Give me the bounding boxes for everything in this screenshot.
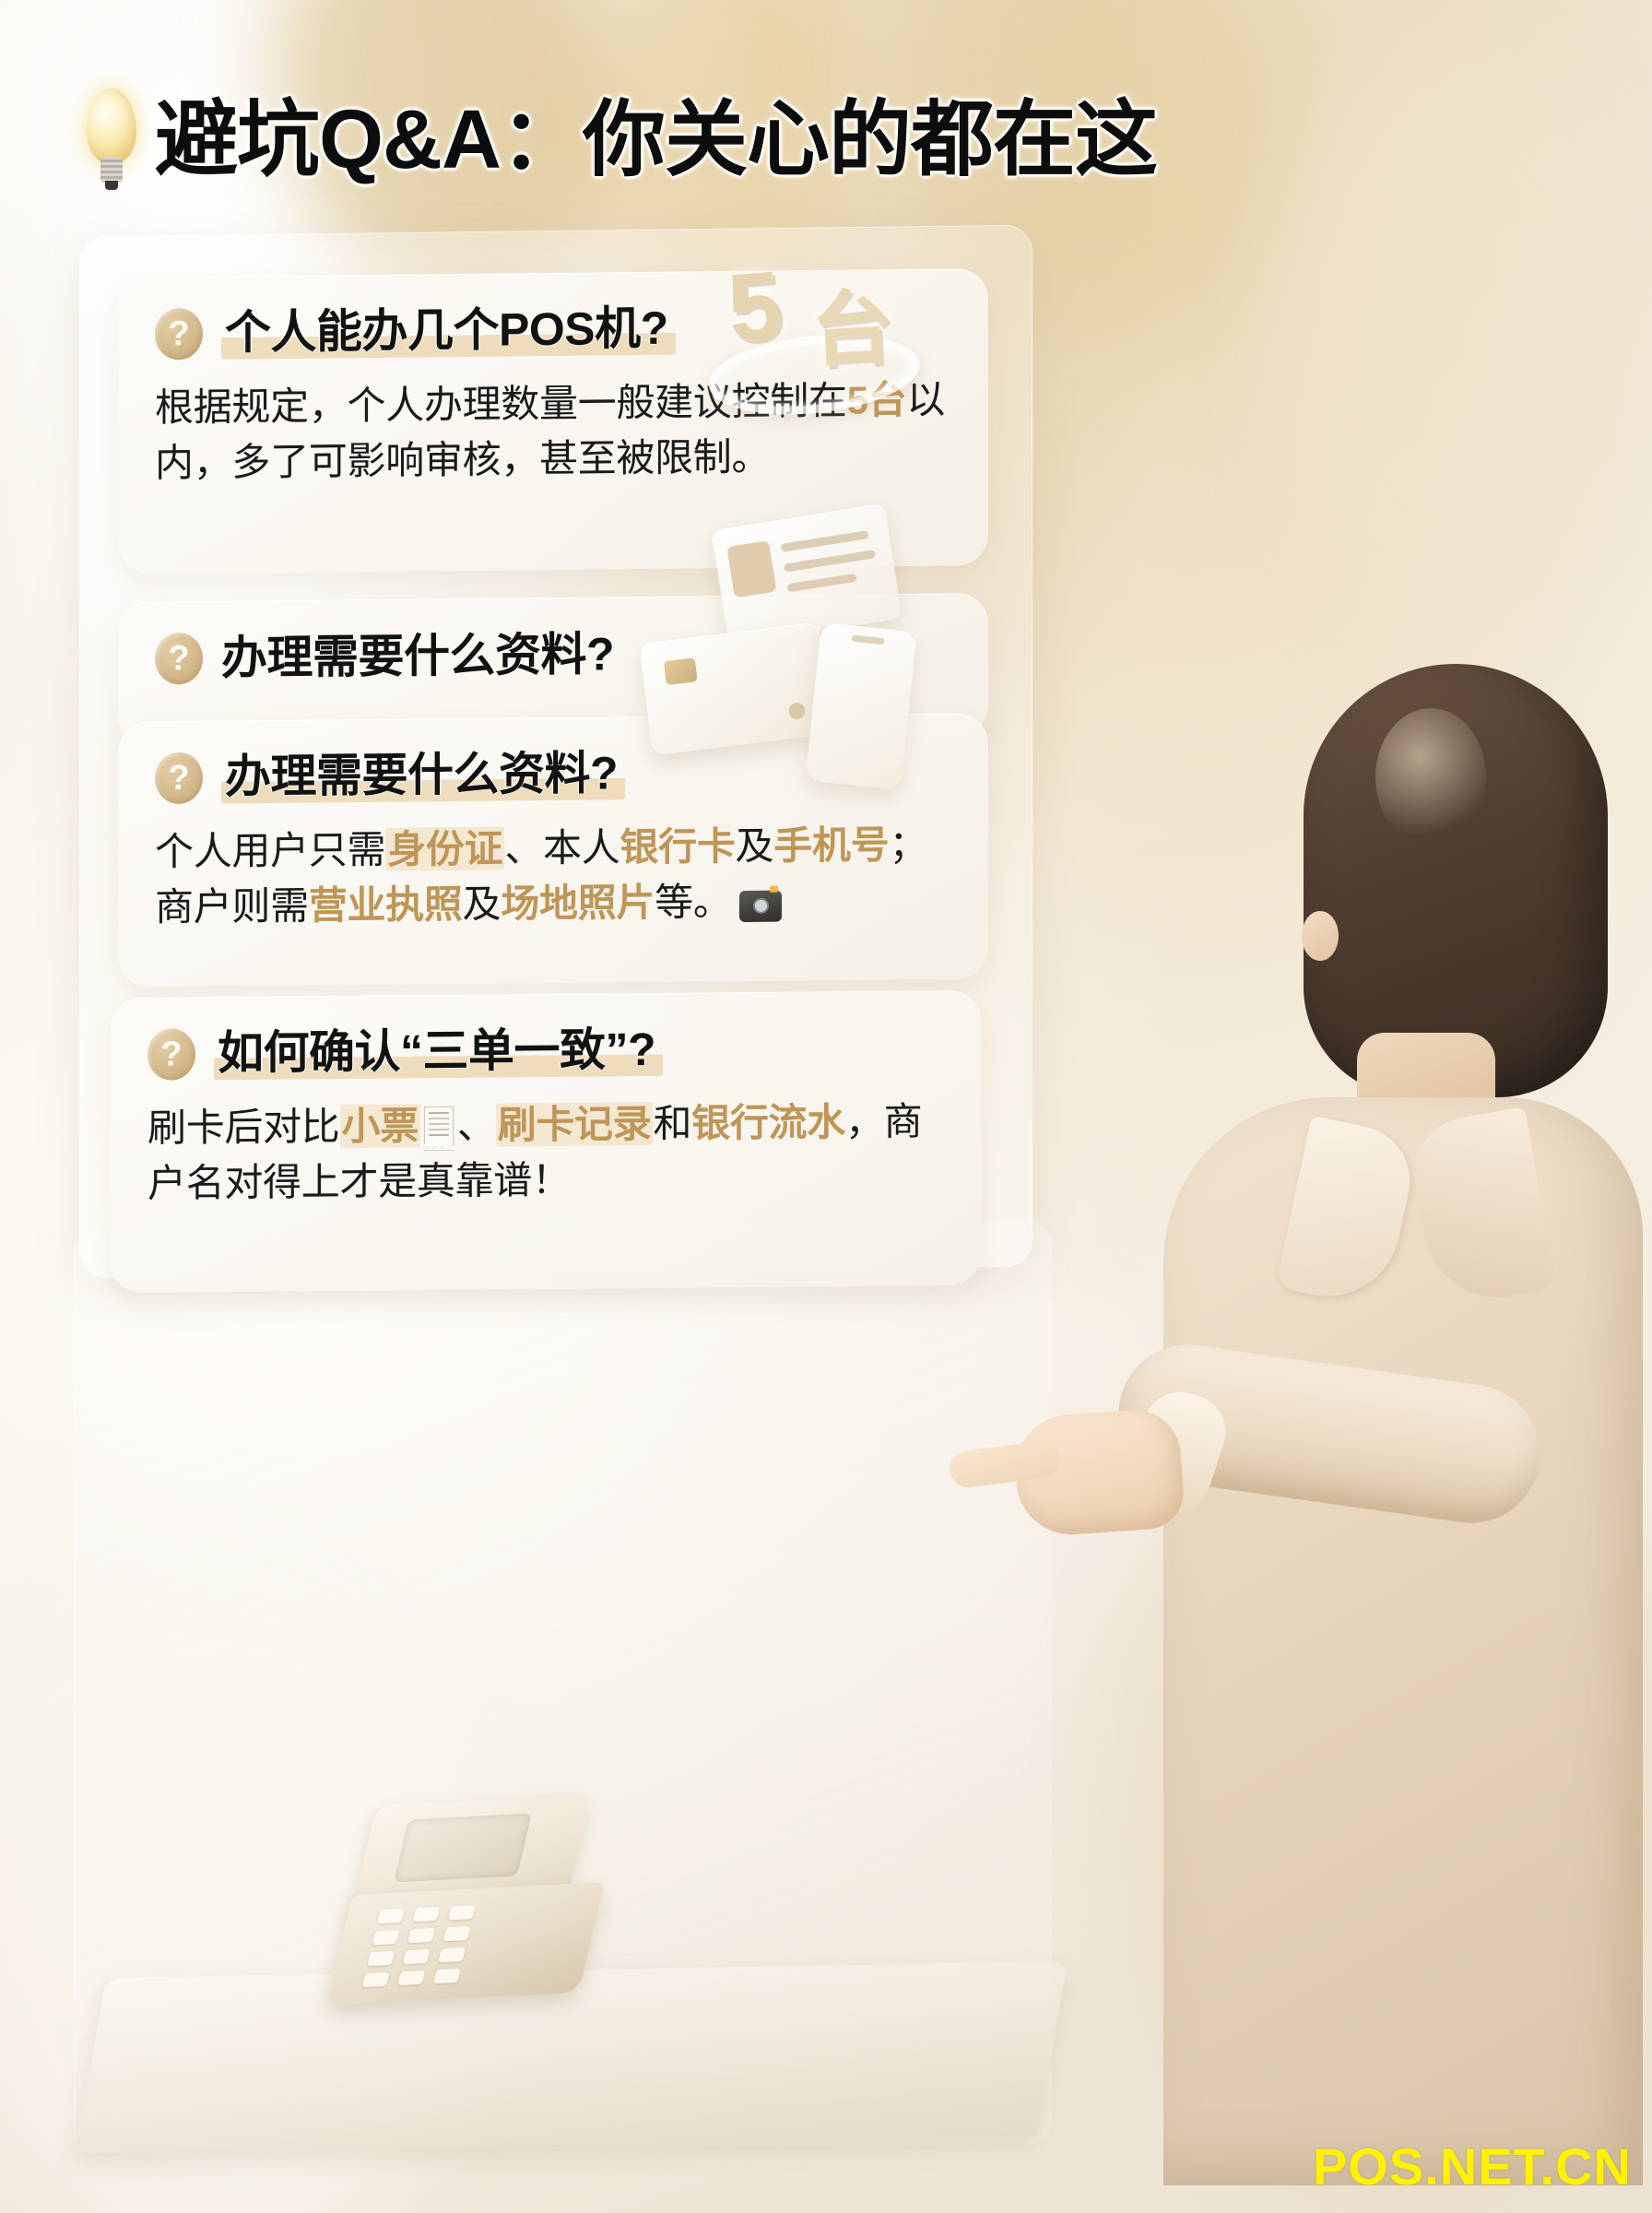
- person-illustration: [979, 664, 1652, 2176]
- answer-highlight-run: 手机号: [773, 823, 889, 868]
- hair-highlight: [1375, 708, 1486, 846]
- answer-text-run: 及: [463, 882, 501, 925]
- lightbulb-icon: [81, 89, 142, 192]
- bank-card-icon: [639, 622, 832, 756]
- units-character-glyph: 台: [808, 262, 896, 383]
- faq-answer-text: 个人用户只需身份证、本人银行卡及手机号；商户则需营业执照及场地照片等。: [155, 817, 948, 935]
- pos-terminal-3d-prop: [341, 1800, 645, 2012]
- answer-highlight-run: 小票: [340, 1104, 420, 1148]
- phone-icon: [805, 622, 916, 790]
- pos-key: [397, 1970, 425, 1985]
- lightbulb-tip: [105, 181, 118, 190]
- card-chip: [664, 657, 698, 685]
- answer-highlight-run: 银行卡: [619, 824, 735, 869]
- question-mark-icon: ?: [147, 1028, 195, 1080]
- faq-question-title: 办理需要什么资料?: [221, 629, 614, 682]
- question-mark-icon: ?: [155, 633, 203, 685]
- pos-key: [377, 1909, 405, 1923]
- receipt-icon: [424, 1106, 454, 1146]
- torso: [1163, 1097, 1643, 2185]
- answer-highlight-run: 刷卡记录: [496, 1102, 654, 1146]
- pos-screen: [394, 1814, 532, 1883]
- pos-key: [372, 1930, 400, 1945]
- phone-notch: [851, 635, 885, 645]
- five-number-glyph: 5: [724, 251, 786, 365]
- faq-question-title: 办理需要什么资料?: [221, 748, 625, 803]
- ear: [1302, 911, 1339, 961]
- five-units-3d-prop: 5 台: [702, 247, 924, 422]
- answer-highlight-run: 银行流水: [691, 1100, 845, 1144]
- lightbulb-glass: [87, 89, 136, 164]
- answer-text-run: 及: [736, 824, 774, 868]
- faq-question-title: 如何确认“三单一致”?: [214, 1024, 663, 1080]
- faq-question-title: 个人能办几个POS机?: [221, 303, 676, 360]
- faq-answer-text: 刷卡后对比小票、刷卡记录和银行流水，商户名对得上才是真靠谱！: [147, 1094, 940, 1211]
- answer-highlight-run: 场地照片: [501, 881, 655, 926]
- answer-text-run: 和: [653, 1102, 691, 1145]
- pos-key: [443, 1926, 471, 1941]
- id-line: [780, 530, 868, 552]
- bokeh-blob: [1272, 55, 1652, 627]
- pos-keypad: [326, 1882, 605, 2006]
- id-line: [786, 574, 856, 593]
- id-photo: [726, 540, 776, 598]
- faq-question-row: ? 如何确认“三单一致”?: [147, 1022, 940, 1081]
- faq-card[interactable]: ? 如何确认“三单一致”? 刷卡后对比小票、刷卡记录和银行流水，商户名对得上才是…: [111, 990, 981, 1293]
- card-dot: [787, 702, 806, 720]
- pos-key: [367, 1951, 395, 1966]
- pos-key: [362, 1972, 390, 1987]
- pos-key: [403, 1949, 431, 1964]
- lightbulb-base: [100, 157, 123, 183]
- page-title: 避坑Q&A：你关心的都在这: [155, 99, 1157, 182]
- pos-key: [433, 1969, 461, 1983]
- site-watermark: POS.NET.CN: [1313, 2136, 1632, 2196]
- answer-text-run: 、: [457, 1103, 496, 1146]
- id-line: [784, 550, 876, 573]
- documents-3d-prop: [645, 516, 950, 793]
- answer-text-run: 、本人: [504, 825, 619, 870]
- question-mark-icon: ?: [155, 752, 203, 804]
- answer-text-run: 等。: [655, 880, 731, 924]
- camera-icon: [739, 890, 782, 921]
- pos-key: [448, 1905, 476, 1920]
- page-header: 避坑Q&A：你关心的都在这: [81, 89, 1157, 192]
- pos-key: [412, 1907, 440, 1922]
- answer-highlight-run: 营业执照: [309, 882, 463, 928]
- question-mark-icon: ?: [155, 308, 203, 361]
- answer-highlight-run: 身份证: [385, 827, 504, 871]
- pos-key: [438, 1947, 466, 1962]
- pos-key: [407, 1928, 435, 1943]
- answer-text-run: 刷卡后对比: [147, 1105, 340, 1150]
- answer-text-run: 个人用户只需: [155, 828, 385, 873]
